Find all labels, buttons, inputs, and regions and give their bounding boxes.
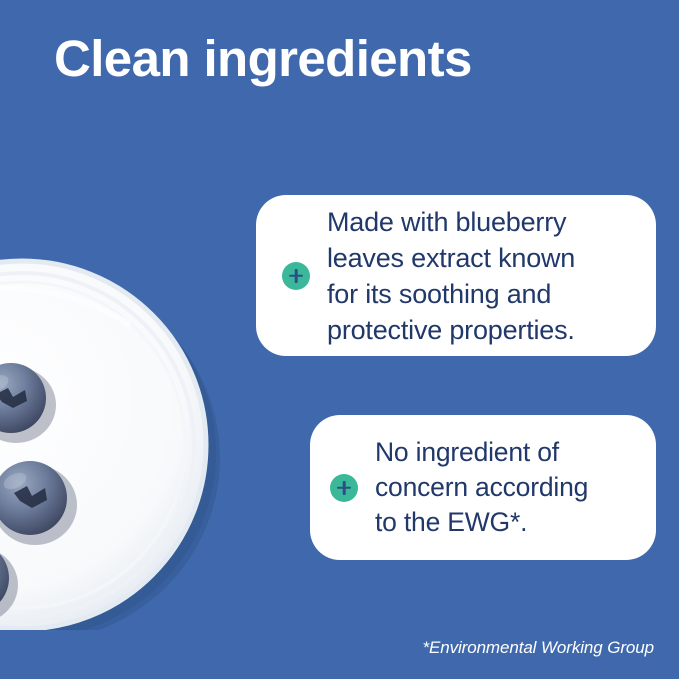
plus-icon bbox=[330, 474, 358, 502]
plus-icon bbox=[282, 262, 310, 290]
benefit-card-2: No ingredient of concern according to th… bbox=[310, 415, 656, 560]
page-title: Clean ingredients bbox=[54, 31, 472, 86]
footnote: *Environmental Working Group bbox=[422, 638, 654, 658]
benefit-card-1-text: Made with blueberry leaves extract known… bbox=[327, 204, 575, 348]
infographic-root: Clean ingredients bbox=[0, 0, 679, 679]
product-photo bbox=[0, 255, 250, 630]
benefit-card-2-text: No ingredient of concern according to th… bbox=[375, 435, 588, 540]
benefit-card-1: Made with blueberry leaves extract known… bbox=[256, 195, 656, 356]
